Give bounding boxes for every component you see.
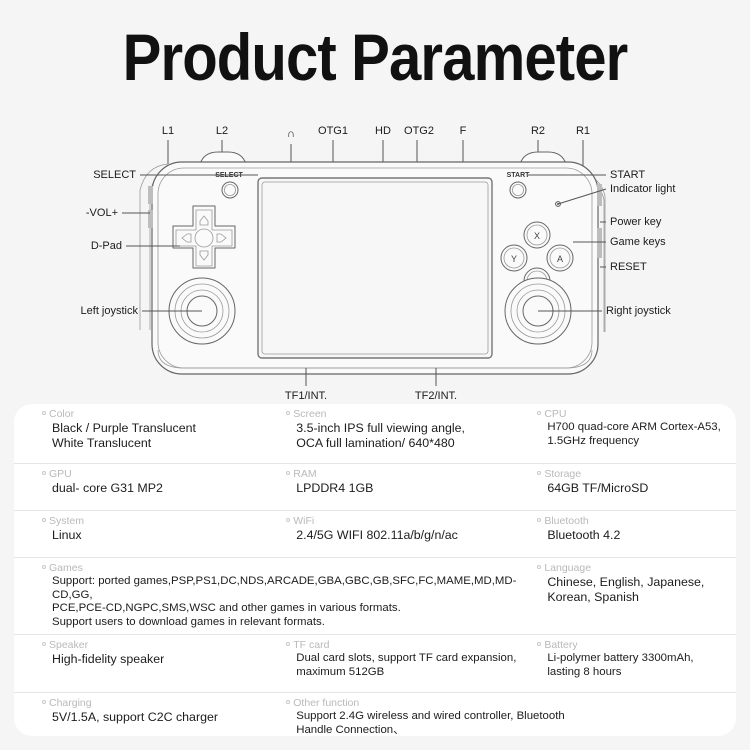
headphone-icon: ∩ — [287, 128, 295, 140]
spec-cell-bluetooth: Bluetooth Bluetooth 4.2 — [527, 511, 736, 557]
bullet-icon — [537, 518, 541, 522]
callout-start: START — [610, 169, 645, 181]
spec-cell-language: Language Chinese, English, Japanese, Kor… — [527, 558, 736, 634]
spec-label: Charging — [42, 697, 278, 710]
spec-label: System — [42, 515, 278, 528]
spec-value: dual- core G31 MP2 — [42, 481, 278, 496]
bullet-icon — [42, 411, 46, 415]
spec-cell-ram: RAM LPDDR4 1GB — [278, 464, 527, 510]
spec-label: Speaker — [42, 639, 278, 652]
spec-value: 2.4/5G WIFI 802.11a/b/g/n/ac — [286, 528, 527, 543]
spec-label-text: Color — [49, 408, 74, 420]
spec-label-text: Battery — [544, 639, 577, 651]
spec-label: WiFi — [286, 515, 527, 528]
spec-cell-speaker: Speaker High-fidelity speaker — [14, 635, 278, 692]
spec-label-text: CPU — [544, 408, 566, 420]
diagram-label-l2: L2 — [216, 125, 228, 137]
spec-value: Li-polymer battery 3300mAh, lasting 8 ho… — [537, 652, 736, 679]
bullet-icon — [42, 471, 46, 475]
callout-volume: -VOL+ — [86, 207, 118, 219]
spec-table-card: Color Black / Purple Translucent White T… — [14, 404, 736, 736]
spec-cell-system: System Linux — [14, 511, 278, 557]
spec-label-text: GPU — [49, 468, 72, 480]
spec-label: CPU — [537, 408, 736, 421]
spec-value: Black / Purple Translucent White Translu… — [42, 421, 278, 451]
spec-value: 3.5-inch IPS full viewing angle, OCA ful… — [286, 421, 527, 451]
bullet-icon — [42, 642, 46, 646]
diagram-label-l1: L1 — [162, 125, 174, 137]
spec-value: Chinese, English, Japanese, Korean, Span… — [537, 575, 736, 605]
callout-left-joystick: Left joystick — [81, 305, 139, 317]
callout-power-key: Power key — [610, 216, 662, 228]
spec-label-text: Screen — [293, 408, 326, 420]
spec-value: 5V/1.5A, support C2C charger — [42, 710, 278, 725]
device-diagram: .ln{stroke:#555;stroke-width:1;fill:none… — [0, 118, 750, 408]
bullet-icon — [42, 518, 46, 522]
bullet-icon — [286, 411, 290, 415]
spec-cell-charging: Charging 5V/1.5A, support C2C charger — [14, 693, 278, 736]
spec-label-text: System — [49, 515, 84, 527]
spec-cell-screen: Screen 3.5-inch IPS full viewing angle, … — [278, 404, 527, 463]
spec-cell-gpu: GPU dual- core G31 MP2 — [14, 464, 278, 510]
callout-reset: RESET — [610, 261, 647, 273]
diagram-label-r1: R1 — [576, 125, 590, 137]
spec-label: Color — [42, 408, 278, 421]
spec-value: High-fidelity speaker — [42, 652, 278, 667]
spec-label-text: Language — [544, 562, 591, 574]
spec-value: Linux — [42, 528, 278, 543]
spec-row: Charging 5V/1.5A, support C2C charger Ot… — [14, 693, 736, 736]
spec-cell-battery: Battery Li-polymer battery 3300mAh, last… — [527, 635, 736, 692]
reset-rail — [597, 228, 602, 258]
spec-label: Games — [42, 562, 527, 575]
top-labels: L1 L2 ∩ OTG1 HD OTG2 F R2 R1 — [162, 125, 590, 140]
spec-cell-color: Color Black / Purple Translucent White T… — [14, 404, 278, 463]
spec-row: Speaker High-fidelity speaker TF card Du… — [14, 635, 736, 693]
callout-game-keys: Game keys — [610, 236, 666, 248]
spec-cell-storage: Storage 64GB TF/MicroSD — [527, 464, 736, 510]
diagram-label-otg2: OTG2 — [404, 125, 434, 137]
spec-label-text: Storage — [544, 468, 581, 480]
callout-select: SELECT — [93, 169, 136, 181]
bullet-icon — [537, 411, 541, 415]
spec-label: Storage — [537, 468, 736, 481]
spec-value: LPDDR4 1GB — [286, 481, 527, 496]
spec-value: Dual card slots, support TF card expansi… — [286, 652, 527, 679]
spec-label: TF card — [286, 639, 527, 652]
spec-label: RAM — [286, 468, 527, 481]
spec-value: Support: ported games,PSP,PS1,DC,NDS,ARC… — [42, 575, 527, 629]
page-title: Product Parameter — [45, 24, 705, 90]
bullet-icon — [537, 471, 541, 475]
spec-row: Color Black / Purple Translucent White T… — [14, 404, 736, 464]
spec-label: Screen — [286, 408, 527, 421]
diagram-label-r2: R2 — [531, 125, 545, 137]
bullet-icon — [42, 700, 46, 704]
bullet-icon — [537, 642, 541, 646]
a-button-label: A — [557, 254, 563, 264]
bullet-icon — [42, 565, 46, 569]
callout-dpad: D-Pad — [91, 240, 122, 252]
spec-cell-wifi: WiFi 2.4/5G WIFI 802.11a/b/g/n/ac — [278, 511, 527, 557]
spec-label-text: Games — [49, 562, 83, 574]
spec-value: 64GB TF/MicroSD — [537, 481, 736, 496]
bullet-icon — [537, 565, 541, 569]
callout-tf2: TF2/INT. — [415, 390, 457, 402]
diagram-label-f: F — [460, 125, 467, 137]
spec-label-text: Bluetooth — [544, 515, 588, 527]
bullet-icon — [286, 700, 290, 704]
device-illustration: SELECT START X Y — [140, 152, 605, 374]
spec-cell-cpu: CPU H700 quad-core ARM Cortex-A53, 1.5GH… — [527, 404, 736, 463]
spec-label-text: Speaker — [49, 639, 88, 651]
x-button-label: X — [534, 231, 540, 241]
spec-label: Language — [537, 562, 736, 575]
spec-row: System Linux WiFi 2.4/5G WIFI 802.11a/b/… — [14, 511, 736, 558]
spec-cell-tf-card: TF card Dual card slots, support TF card… — [278, 635, 527, 692]
spec-label: Other function — [286, 697, 591, 710]
callout-indicator-light: Indicator light — [610, 183, 675, 195]
spec-label-text: TF card — [293, 639, 329, 651]
spec-cell-games: Games Support: ported games,PSP,PS1,DC,N… — [14, 558, 527, 634]
spec-label-text: Other function — [293, 697, 359, 709]
bullet-icon — [286, 642, 290, 646]
diagram-label-hd: HD — [375, 125, 391, 137]
spec-row: Games Support: ported games,PSP,PS1,DC,N… — [14, 558, 736, 635]
bullet-icon — [286, 471, 290, 475]
spec-label-text: RAM — [293, 468, 316, 480]
spec-label: GPU — [42, 468, 278, 481]
spec-value: Bluetooth 4.2 — [537, 528, 736, 543]
spec-label-text: WiFi — [293, 515, 314, 527]
bullet-icon — [286, 518, 290, 522]
device-screen — [258, 178, 492, 358]
y-button-label: Y — [511, 254, 517, 264]
spec-label-text: Charging — [49, 697, 92, 709]
callout-tf1: TF1/INT. — [285, 390, 327, 402]
callout-right-joystick: Right joystick — [606, 305, 671, 317]
diagram-label-otg1: OTG1 — [318, 125, 348, 137]
spec-value: H700 quad-core ARM Cortex-A53, 1.5GHz fr… — [537, 421, 736, 448]
power-key-rail — [597, 184, 602, 206]
spec-value: Support 2.4G wireless and wired controll… — [286, 710, 591, 736]
volume-rail — [148, 186, 153, 204]
spec-label: Battery — [537, 639, 736, 652]
device-start-label: START — [507, 172, 531, 179]
spec-cell-other-function: Other function Support 2.4G wireless and… — [278, 693, 591, 736]
spec-row: GPU dual- core G31 MP2 RAM LPDDR4 1GB St… — [14, 464, 736, 511]
spec-label: Bluetooth — [537, 515, 736, 528]
